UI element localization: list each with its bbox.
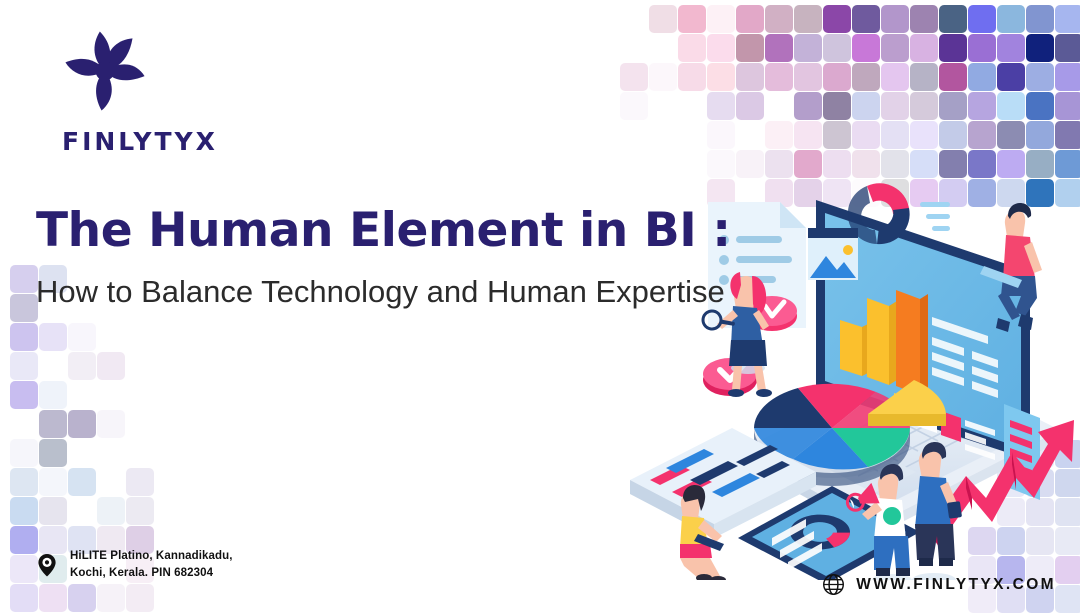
mosaic-top-right-tile [794, 121, 822, 149]
mosaic-top-right-tile [997, 121, 1025, 149]
mosaic-top-right-tile [794, 5, 822, 33]
mosaic-top-right-tile [1055, 150, 1080, 178]
mosaic-top-right-tile [707, 150, 735, 178]
mosaic-top-right-tile [794, 150, 822, 178]
mosaic-top-right-tile [852, 150, 880, 178]
mosaic-top-right-tile [852, 63, 880, 91]
mosaic-top-right-tile [707, 92, 735, 120]
mosaic-top-right-tile [852, 34, 880, 62]
mosaic-left-tile [97, 410, 125, 438]
mosaic-top-right-tile [939, 5, 967, 33]
mosaic-top-right-tile [1026, 92, 1054, 120]
mosaic-left-tile [10, 468, 38, 496]
brand-logo-block: FINLYTYX [44, 28, 244, 156]
mosaic-top-right-tile [823, 63, 851, 91]
mosaic-top-right-tile [1026, 5, 1054, 33]
brand-name: FINLYTYX [62, 127, 244, 156]
page-title: The Human Element in BI : [36, 205, 736, 258]
poster-canvas: FINLYTYX The Human Element in BI : How t… [0, 0, 1080, 615]
mosaic-left-tile [39, 323, 67, 351]
mosaic-top-right-tile [910, 121, 938, 149]
address-text: HiLITE Platino, Kannadikadu, Kochi, Kera… [70, 548, 233, 581]
donut-chart [848, 183, 950, 244]
mosaic-left-tile [39, 381, 67, 409]
mosaic-top-right-tile [997, 63, 1025, 91]
mosaic-top-right-tile [823, 92, 851, 120]
mosaic-left-tile [68, 584, 96, 612]
mosaic-left-tile [39, 468, 67, 496]
mosaic-top-right-tile [968, 5, 996, 33]
mosaic-top-right-tile [1055, 34, 1080, 62]
mosaic-left-tile [10, 381, 38, 409]
mosaic-left-tile [97, 352, 125, 380]
globe-icon [822, 573, 845, 596]
mosaic-top-right-tile [939, 63, 967, 91]
mosaic-top-right-tile [910, 92, 938, 120]
mosaic-top-right-tile [823, 150, 851, 178]
mosaic-top-right-tile [997, 150, 1025, 178]
mosaic-top-right-tile [939, 34, 967, 62]
mosaic-top-right-tile [997, 34, 1025, 62]
pinwheel-swirl-logo-icon [62, 28, 148, 114]
mosaic-top-right-tile [794, 63, 822, 91]
mosaic-top-right-tile [968, 121, 996, 149]
mosaic-left-tile [97, 497, 125, 525]
mosaic-left-tile [10, 497, 38, 525]
mosaic-top-right-tile [881, 34, 909, 62]
mosaic-left-tile [39, 497, 67, 525]
mosaic-top-right-tile [736, 150, 764, 178]
mosaic-top-right-tile [678, 34, 706, 62]
mosaic-top-right-tile [736, 34, 764, 62]
mosaic-top-right-tile [1026, 150, 1054, 178]
mosaic-top-right-tile [1055, 5, 1080, 33]
mosaic-top-right-tile [910, 5, 938, 33]
mosaic-top-right-tile [910, 63, 938, 91]
mosaic-top-right-tile [707, 63, 735, 91]
mosaic-top-right-tile [707, 34, 735, 62]
mosaic-top-right-tile [678, 63, 706, 91]
mosaic-top-right-tile [852, 92, 880, 120]
mosaic-left-tile [10, 323, 38, 351]
mosaic-top-right-tile [823, 5, 851, 33]
mosaic-top-right-tile [968, 92, 996, 120]
mosaic-top-right-tile [1026, 121, 1054, 149]
mosaic-left-tile [126, 497, 154, 525]
mosaic-left-tile [68, 410, 96, 438]
mosaic-left-tile [68, 323, 96, 351]
mosaic-top-right-tile [707, 121, 735, 149]
mosaic-left-tile [10, 439, 38, 467]
mosaic-top-right-tile [649, 63, 677, 91]
mosaic-top-right-tile [765, 150, 793, 178]
mosaic-top-right-tile [852, 5, 880, 33]
mosaic-top-right-tile [823, 34, 851, 62]
mosaic-top-right-tile [765, 5, 793, 33]
mosaic-bottom-right-tile [1055, 585, 1080, 613]
website-url[interactable]: WWW.FINLYTYX.COM [856, 576, 1056, 594]
mosaic-top-right-tile [823, 121, 851, 149]
photo-card [808, 228, 858, 280]
mosaic-top-right-tile [997, 92, 1025, 120]
mosaic-top-right-tile [968, 150, 996, 178]
mosaic-top-right-tile [1026, 34, 1054, 62]
mosaic-left-tile [39, 584, 67, 612]
mosaic-top-right-tile [881, 63, 909, 91]
mosaic-left-tile [39, 410, 67, 438]
mosaic-top-right-tile [678, 5, 706, 33]
mosaic-left-tile [39, 439, 67, 467]
mosaic-top-right-tile [794, 92, 822, 120]
mosaic-top-right-tile [968, 34, 996, 62]
mosaic-left-tile [126, 468, 154, 496]
mosaic-top-right-tile [1055, 63, 1080, 91]
address-line-2: Kochi, Kerala. PIN 682304 [70, 567, 213, 579]
headline-block: The Human Element in BI : How to Balance… [36, 205, 736, 310]
mosaic-top-right-tile [997, 5, 1025, 33]
mosaic-top-right-tile [736, 63, 764, 91]
mosaic-top-right-tile [881, 121, 909, 149]
mosaic-top-right-tile [765, 34, 793, 62]
mosaic-top-right-tile [968, 63, 996, 91]
mosaic-left-tile [126, 584, 154, 612]
mosaic-top-right-tile [881, 92, 909, 120]
mosaic-left-tile [10, 352, 38, 380]
map-pin-icon [33, 551, 61, 579]
mosaic-top-right-tile [1055, 92, 1080, 120]
address-block: HiLITE Platino, Kannadikadu, Kochi, Kera… [33, 548, 233, 581]
mosaic-left-tile [68, 352, 96, 380]
mosaic-top-right-tile [620, 63, 648, 91]
mosaic-top-right-tile [620, 92, 648, 120]
mosaic-top-right-tile [1055, 121, 1080, 149]
mosaic-top-right-tile [736, 92, 764, 120]
mosaic-top-right-tile [939, 92, 967, 120]
mosaic-top-right-tile [1026, 63, 1054, 91]
mosaic-left-tile [10, 584, 38, 612]
mosaic-left-tile [10, 294, 38, 322]
mosaic-left-tile [10, 265, 38, 293]
mosaic-left-tile [68, 468, 96, 496]
page-subtitle: How to Balance Technology and Human Expe… [36, 274, 736, 310]
mosaic-top-right-tile [765, 121, 793, 149]
address-line-1: HiLITE Platino, Kannadikadu, [70, 550, 233, 562]
mosaic-top-right-tile [794, 34, 822, 62]
mosaic-top-right-tile [939, 121, 967, 149]
mosaic-top-right-tile [707, 5, 735, 33]
mosaic-top-right-tile [910, 34, 938, 62]
mosaic-left-tile [97, 584, 125, 612]
mosaic-top-right-tile [910, 150, 938, 178]
mosaic-top-right-tile [881, 150, 909, 178]
mosaic-top-right-tile [939, 150, 967, 178]
mosaic-top-right-tile [765, 63, 793, 91]
mosaic-top-right-tile [649, 5, 677, 33]
website-block[interactable]: WWW.FINLYTYX.COM [822, 573, 1056, 596]
mosaic-top-right-tile [736, 5, 764, 33]
mosaic-top-right-tile [852, 121, 880, 149]
mosaic-top-right-tile [881, 5, 909, 33]
